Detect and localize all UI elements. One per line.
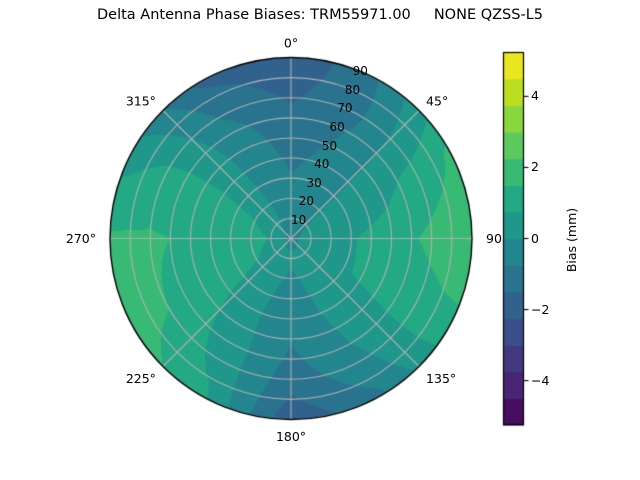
angle-tick-label-315: 315° [126, 96, 156, 109]
angle-tick-label-0: 0° [284, 37, 298, 50]
colorbar-tick-label-4: 4 [531, 90, 539, 103]
colorbar-strip[interactable] [503, 52, 524, 425]
angle-tick-label-90: 90 [486, 232, 502, 245]
figure-canvas-container: Delta Antenna Phase Biases: TRM55971.00 … [0, 0, 640, 480]
angle-tick-label-180: 180° [276, 431, 306, 444]
angle-tick-label-225: 225° [126, 372, 156, 385]
angle-tick-label-45: 45° [426, 96, 448, 109]
angle-tick-label-135: 135° [426, 372, 456, 385]
colorbar-tick-label-minus4: −4 [531, 374, 549, 387]
polar-plot-area[interactable] [110, 57, 472, 419]
colorbar-tick-label-2: 2 [531, 161, 539, 174]
page-title: Delta Antenna Phase Biases: TRM55971.00 … [97, 8, 543, 23]
colorbar-axis-label: Bias (mm) [566, 208, 579, 272]
colorbar-tick-label-minus2: −2 [531, 303, 549, 316]
colorbar-tick-label-0: 0 [531, 232, 539, 245]
angle-tick-label-270: 270° [66, 232, 96, 245]
